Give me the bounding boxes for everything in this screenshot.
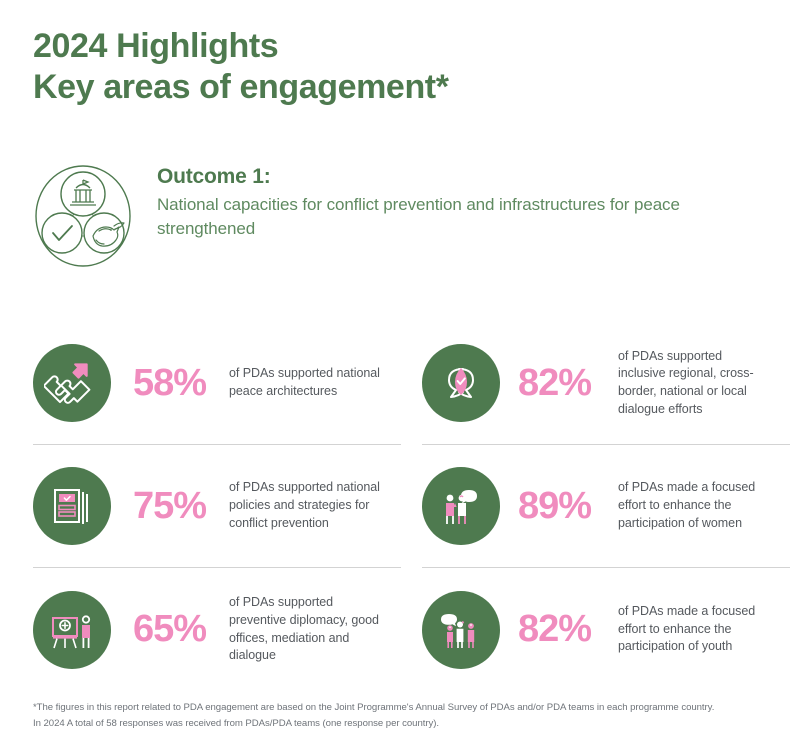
stat-value: 82%	[518, 362, 618, 405]
footnote: *The figures in this report related to P…	[33, 700, 778, 731]
stat-value: 75%	[133, 485, 229, 528]
stat-description: of PDAs supported national peace archite…	[229, 365, 389, 401]
page-header: 2024 Highlights Key areas of engagement*	[33, 26, 733, 109]
stat-value: 89%	[518, 485, 618, 528]
stat-item: 58% of PDAs supported national peace arc…	[33, 322, 401, 445]
two-women-dialogue-icon	[422, 467, 500, 545]
peace-pillars-icon	[33, 164, 133, 268]
stat-item: 82% of PDAs supported inclusive regional…	[422, 322, 790, 445]
stat-item: 82% of PDAs made a focused effort to enh…	[422, 568, 790, 691]
three-youth-figures-icon	[422, 591, 500, 669]
puzzle-pieces-icon	[33, 344, 111, 422]
stat-description: of PDAs made a focused effort to enhance…	[618, 479, 768, 532]
policy-document-icon	[33, 467, 111, 545]
stat-value: 65%	[133, 608, 229, 651]
stat-value: 58%	[133, 362, 229, 405]
outcome-block: Outcome 1: National capacities for confl…	[33, 160, 753, 268]
outcome-text: Outcome 1: National capacities for confl…	[157, 160, 727, 241]
stat-description: of PDAs supported preventive diplomacy, …	[229, 594, 389, 665]
presentation-easel-icon	[33, 591, 111, 669]
page-title: 2024 Highlights Key areas of engagement*	[33, 26, 733, 109]
stat-description: of PDAs supported inclusive regional, cr…	[618, 348, 768, 419]
speech-bubbles-check-icon	[422, 344, 500, 422]
stat-item: 75% of PDAs supported national policies …	[33, 445, 401, 568]
stat-description: of PDAs supported national policies and …	[229, 479, 389, 532]
outcome-description: National capacities for conflict prevent…	[157, 193, 727, 241]
stat-item: 65% of PDAs supported preventive diploma…	[33, 568, 401, 691]
stat-value: 82%	[518, 608, 618, 651]
stat-item: 89% of PDAs made a focused effort to enh…	[422, 445, 790, 568]
stats-grid: 58% of PDAs supported national peace arc…	[33, 322, 790, 691]
outcome-label: Outcome 1:	[157, 164, 727, 189]
stat-description: of PDAs made a focused effort to enhance…	[618, 603, 768, 656]
